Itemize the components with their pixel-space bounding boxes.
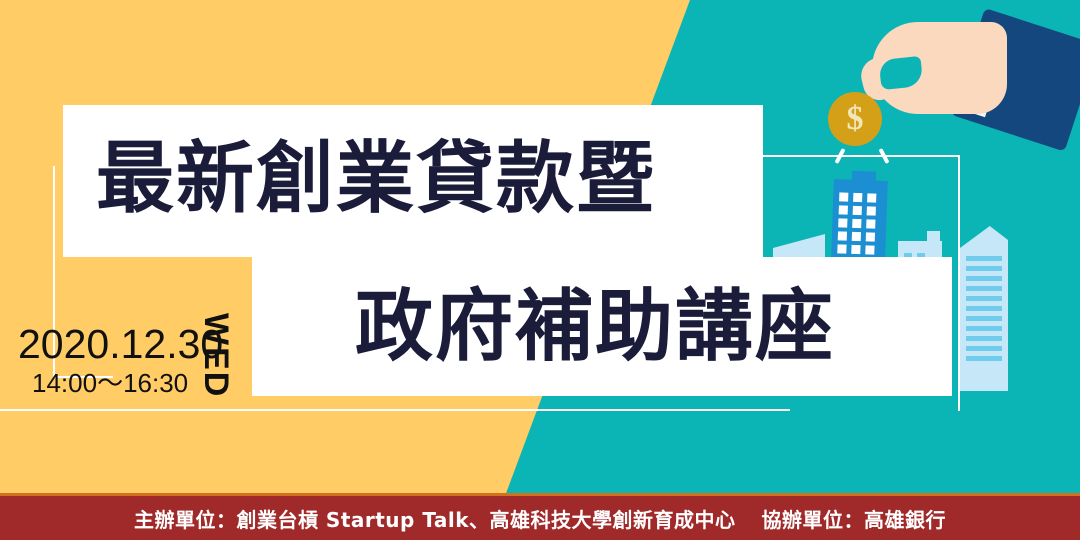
poster-canvas: $ 最新創業貸款暨 政府補助講座 2020.12.30 14:00～16:30 … — [0, 0, 1080, 540]
event-date-block: 2020.12.30 14:00～16:30 — [18, 322, 223, 398]
bracket-footer-line — [0, 409, 790, 411]
footer-credits: 主辦單位：創業台槓 Startup Talk、高雄科技大學創新育成中心協辦單位：… — [134, 504, 946, 533]
footer-organizer: 主辦單位：創業台槓 Startup Talk、高雄科技大學創新育成中心 — [134, 508, 736, 532]
event-day-of-week: WED — [196, 313, 235, 398]
event-time: 14:00～16:30 — [32, 368, 223, 398]
poster-title-line-1: 最新創業貸款暨 — [96, 133, 656, 225]
footer-co-organizer: 協辦單位：高雄銀行 — [762, 508, 947, 532]
footer-bar: 主辦單位：創業台槓 Startup Talk、高雄科技大學創新育成中心協辦單位：… — [0, 496, 1080, 540]
poster-title-line-2: 政府補助講座 — [355, 281, 835, 373]
event-date: 2020.12.30 — [18, 322, 223, 366]
